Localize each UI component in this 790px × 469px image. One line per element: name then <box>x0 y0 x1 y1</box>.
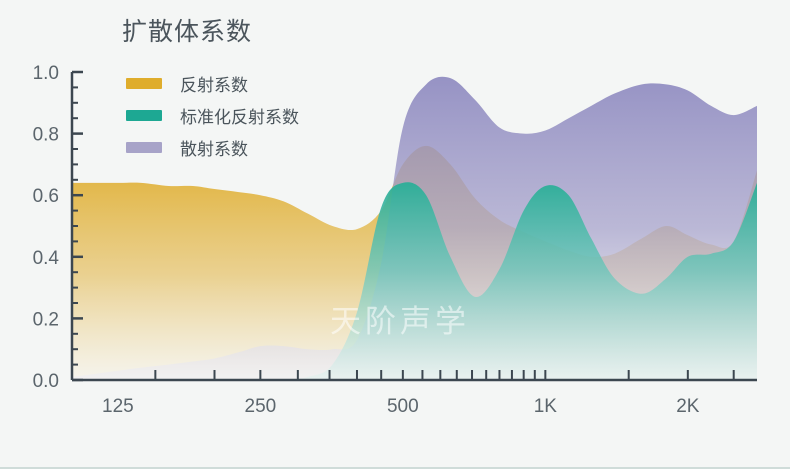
axis-tick-label: 1K <box>534 396 558 417</box>
legend-label-reflection: 反射系数 <box>180 71 248 96</box>
axis-tick-label: 250 <box>245 396 277 417</box>
axis-tick-label: 0.8 <box>33 125 59 146</box>
chart-legend: 反射系数 标准化反射系数 散射系数 <box>126 72 299 158</box>
legend-swatch-icon-scattering <box>126 142 162 153</box>
axis-tick-label: 1.0 <box>33 63 59 84</box>
legend-item-scattering[interactable]: 散射系数 <box>126 136 299 158</box>
legend-item-reflection[interactable]: 反射系数 <box>126 72 299 94</box>
legend-swatch-icon-normalized-reflection <box>126 110 162 121</box>
legend-item-normalized-reflection[interactable]: 标准化反射系数 <box>126 104 299 126</box>
axis-tick-label: 2K <box>676 396 700 417</box>
legend-label-scattering: 散射系数 <box>180 135 248 160</box>
axis-tick-label: 0.2 <box>33 309 59 330</box>
axis-tick-label: 125 <box>102 396 134 417</box>
axis-tick-label: 0.0 <box>33 371 59 392</box>
chart-plot-area: 0.00.20.40.60.81.0 1252505001K2K <box>0 0 790 469</box>
axis-tick-label: 0.6 <box>33 186 59 207</box>
axis-tick-label: 500 <box>387 396 419 417</box>
chart-card: 扩散体系数 <box>0 0 790 469</box>
legend-swatch-icon-reflection <box>126 78 162 89</box>
legend-label-normalized-reflection: 标准化反射系数 <box>180 103 299 128</box>
axis-tick-label: 0.4 <box>33 248 60 269</box>
